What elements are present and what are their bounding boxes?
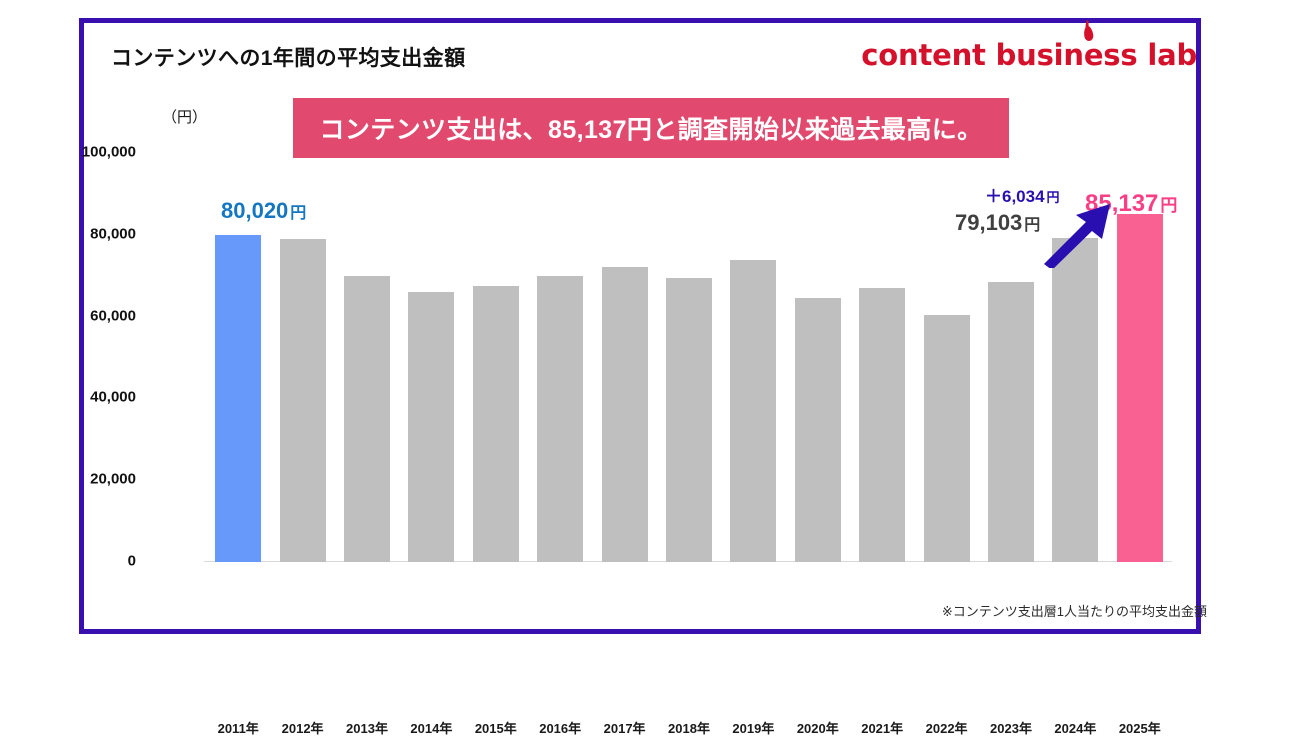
x-axis-label-2020年: 2020年 bbox=[781, 718, 855, 737]
highlight-banner-text: コンテンツ支出は、85,137円と調査開始以来過去最高に。 bbox=[319, 110, 982, 146]
brand-logo-text: content business lab bbox=[861, 38, 1197, 72]
bar-2021年[interactable] bbox=[859, 288, 905, 562]
bar-2011年[interactable] bbox=[215, 235, 261, 562]
data-label-2025-unit: 円 bbox=[1160, 196, 1177, 215]
y-axis-tick: 40,000 bbox=[46, 389, 136, 406]
highlight-banner: コンテンツ支出は、85,137円と調査開始以来過去最高に。 bbox=[293, 98, 1009, 158]
y-axis-tick: 80,000 bbox=[46, 225, 136, 242]
data-label-2024-value: 79,103 bbox=[955, 210, 1022, 235]
y-axis-unit-label: （円） bbox=[162, 106, 207, 127]
growth-arrow-icon bbox=[1040, 200, 1116, 268]
data-label-2011-value: 80,020 bbox=[221, 198, 288, 223]
bar-2025年[interactable] bbox=[1117, 214, 1163, 562]
x-axis-label-2022年: 2022年 bbox=[910, 718, 984, 737]
x-axis-label-2011年: 2011年 bbox=[201, 718, 275, 737]
x-axis-label-2016年: 2016年 bbox=[523, 718, 597, 737]
page-title: コンテンツへの1年間の平均支出金額 bbox=[111, 42, 465, 72]
x-axis-label-2019年: 2019年 bbox=[716, 718, 790, 737]
x-axis-label-2013年: 2013年 bbox=[330, 718, 404, 737]
data-label-delta-value: ＋6,034 bbox=[985, 187, 1045, 206]
bar-2018年[interactable] bbox=[666, 278, 712, 562]
slide-canvas: コンテンツへの1年間の平均支出金額 content business lab コ… bbox=[0, 0, 1299, 652]
x-axis-label-2014年: 2014年 bbox=[394, 718, 468, 737]
y-axis-tick: 20,000 bbox=[46, 471, 136, 488]
data-label-2024-unit: 円 bbox=[1024, 217, 1040, 234]
x-axis-label-2024年: 2024年 bbox=[1038, 718, 1112, 737]
x-axis-label-2015年: 2015年 bbox=[459, 718, 533, 737]
footnote: ※コンテンツ支出層1人当たりの平均支出金額 bbox=[942, 601, 1207, 620]
x-axis-label-2023年: 2023年 bbox=[974, 718, 1048, 737]
x-axis-label-2025年: 2025年 bbox=[1103, 718, 1177, 737]
y-axis-tick: 0 bbox=[46, 553, 136, 570]
data-label-2011-unit: 円 bbox=[290, 205, 306, 222]
bar-2014年[interactable] bbox=[408, 292, 454, 562]
bar-2020年[interactable] bbox=[795, 298, 841, 562]
data-label-2024: 79,103円 bbox=[955, 210, 1040, 236]
bar-2013年[interactable] bbox=[344, 276, 390, 562]
x-axis-label-2012年: 2012年 bbox=[266, 718, 340, 737]
bar-2012年[interactable] bbox=[280, 239, 326, 562]
bar-2019年[interactable] bbox=[730, 260, 776, 562]
y-axis-tick: 100,000 bbox=[46, 144, 136, 161]
y-axis-tick: 60,000 bbox=[46, 307, 136, 324]
bar-2016年[interactable] bbox=[537, 276, 583, 562]
x-axis-label-2021年: 2021年 bbox=[845, 718, 919, 737]
bar-2024年[interactable] bbox=[1052, 238, 1098, 562]
bar-2015年[interactable] bbox=[473, 286, 519, 562]
x-axis-label-2017年: 2017年 bbox=[588, 718, 662, 737]
brand-logo: content business lab bbox=[861, 38, 1197, 72]
data-label-2011: 80,020円 bbox=[221, 198, 306, 224]
bar-2017年[interactable] bbox=[602, 267, 648, 562]
bar-2023年[interactable] bbox=[988, 282, 1034, 562]
x-axis-label-2018年: 2018年 bbox=[652, 718, 726, 737]
bar-2022年[interactable] bbox=[924, 315, 970, 562]
